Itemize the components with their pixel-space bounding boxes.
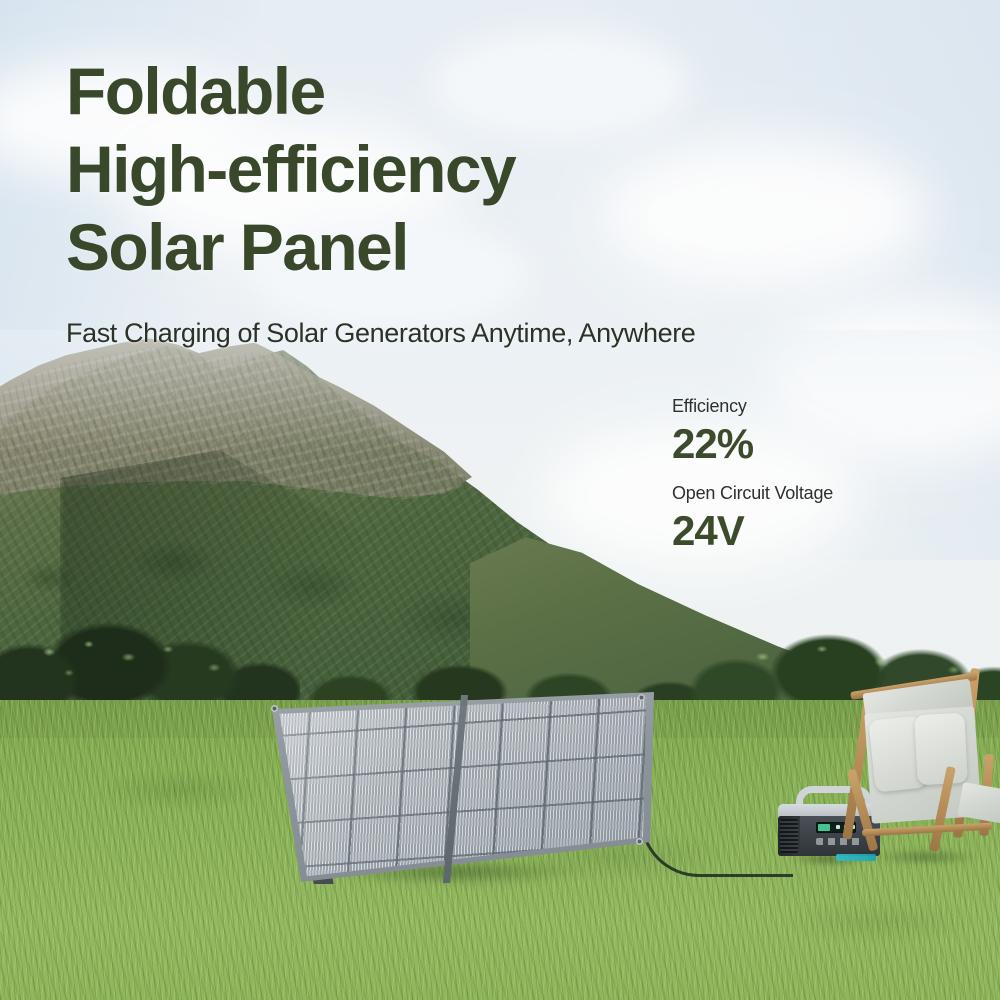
power-station-led (836, 825, 840, 829)
solar-panel-eyelet (636, 838, 643, 845)
solar-panel-eyelet (271, 705, 278, 712)
spec-stats-group: Efficiency 22% Open Circuit Voltage 24V (672, 396, 972, 570)
spec-efficiency-value: 22% (672, 419, 972, 469)
subtitle: Fast Charging of Solar Generators Anytim… (66, 318, 695, 349)
spec-open-circuit-voltage: Open Circuit Voltage 24V (672, 483, 972, 556)
headline-line-1: Foldable (66, 52, 766, 130)
spec-efficiency-label: Efficiency (672, 396, 972, 417)
deck-chair-cross-bar (862, 823, 992, 837)
power-station-display-readout (818, 824, 830, 831)
spec-voltage-value: 24V (672, 506, 972, 556)
spec-efficiency: Efficiency 22% (672, 396, 972, 469)
headline-line-3: Solar Panel (66, 208, 766, 286)
power-station-vent (780, 819, 798, 853)
solar-panel-eyelet (638, 694, 645, 701)
page-title: Foldable High-efficiency Solar Panel (66, 52, 766, 286)
deck-chair (842, 658, 1000, 874)
headline-line-2: High-efficiency (66, 130, 766, 208)
product-hero-banner: Foldable High-efficiency Solar Panel Fas… (0, 0, 1000, 1000)
deck-chair-pillow (914, 713, 968, 786)
solar-panel (262, 692, 654, 892)
spec-voltage-label: Open Circuit Voltage (672, 483, 972, 504)
